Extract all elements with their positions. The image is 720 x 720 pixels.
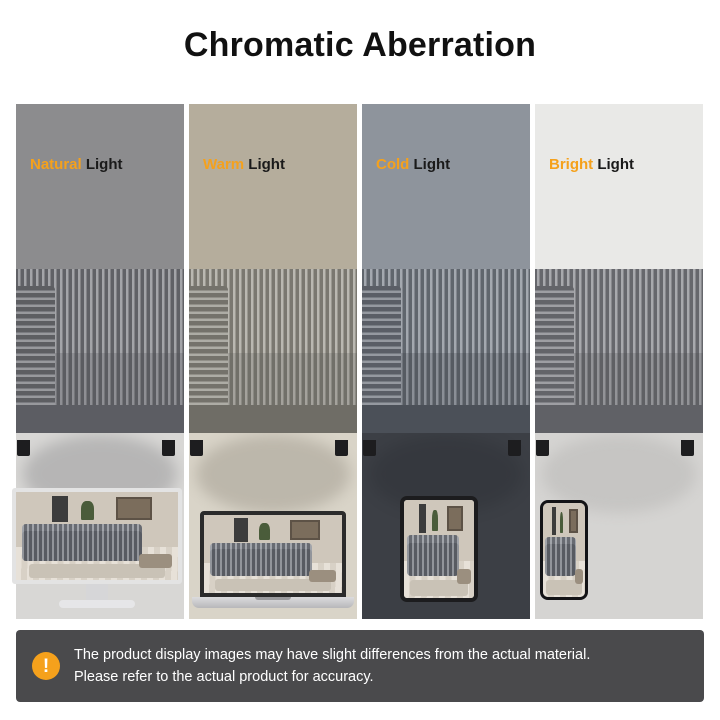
panel-label-accent: Warm: [203, 156, 244, 173]
sofa-skirt: [16, 405, 184, 433]
monitor-screen: [12, 488, 182, 584]
floor-shadow: [196, 435, 351, 513]
phone-screen: [540, 500, 588, 600]
exclamation-icon: !: [32, 652, 60, 680]
sofa: [189, 269, 357, 444]
scene-sofa: [545, 544, 576, 576]
scene-floor-lamp: [52, 496, 68, 522]
panel-label-bright: Bright Light: [549, 156, 634, 173]
sofa-leg: [17, 440, 30, 456]
scene-side-table: [309, 570, 337, 582]
scene-wall-art: [569, 509, 578, 533]
panel-label-rest: Light: [82, 156, 123, 173]
scene-sofa: [407, 543, 459, 576]
panel-label-rest: Light: [409, 156, 450, 173]
page-title: Chromatic Aberration: [0, 26, 720, 65]
scene-plant: [259, 523, 270, 540]
product-chromatic-aberration-card: Chromatic Aberration Natural Light: [0, 0, 720, 720]
sofa-armrest: [16, 286, 55, 419]
disclaimer-line-2: Please refer to the actual product for a…: [74, 666, 590, 688]
scene-plant: [560, 512, 563, 533]
sofa-skirt: [362, 405, 530, 433]
sofa-leg: [681, 440, 694, 456]
device-desktop-monitor: [12, 488, 182, 608]
sofa-leg: [162, 440, 175, 456]
sofa-leg: [363, 440, 376, 456]
sofa: [16, 269, 184, 444]
scene-floor-lamp: [234, 518, 248, 541]
device-laptop: [192, 511, 354, 608]
panel-label-accent: Bright: [549, 156, 593, 173]
monitor-stand-neck: [86, 584, 108, 600]
monitor-stand-base: [59, 600, 135, 608]
panel-label-rest: Light: [244, 156, 285, 173]
scene-wall-art: [447, 506, 462, 531]
scene-floor-lamp: [552, 507, 556, 535]
sofa-armrest: [535, 286, 574, 419]
sofa-armrest: [362, 286, 401, 419]
laptop-trackpad-notch: [255, 597, 291, 600]
sofa-leg: [508, 440, 521, 456]
device-smartphone: [540, 500, 588, 600]
scene-sofa: [210, 549, 312, 576]
sofa-skirt: [189, 405, 357, 433]
scene-floor-lamp: [419, 504, 426, 533]
panel-label-accent: Cold: [376, 156, 409, 173]
laptop-screen: [200, 511, 346, 597]
scene-side-table: [457, 569, 471, 585]
sofa-leg: [536, 440, 549, 456]
sofa: [362, 269, 530, 444]
sofa-leg: [335, 440, 348, 456]
tablet-screen: [400, 496, 478, 602]
panel-label-rest: Light: [593, 156, 634, 173]
disclaimer-line-1: The product display images may have slig…: [74, 644, 590, 666]
panel-label-accent: Natural: [30, 156, 82, 173]
device-tablet: [400, 496, 478, 602]
panel-label-cold: Cold Light: [376, 156, 450, 173]
sofa-armrest: [189, 286, 228, 419]
sofa-leg: [190, 440, 203, 456]
scene-wall-art: [116, 497, 152, 520]
scene-side-table: [575, 569, 583, 584]
scene-plant: [81, 501, 94, 520]
panel-label-warm: Warm Light: [203, 156, 285, 173]
scene-side-table: [139, 554, 171, 568]
scene-sofa: [22, 531, 142, 561]
scene-wall-art: [290, 520, 320, 540]
sofa-skirt: [535, 405, 703, 433]
disclaimer-text: The product display images may have slig…: [74, 644, 590, 689]
panel-label-natural: Natural Light: [30, 156, 123, 173]
disclaimer-notice: ! The product display images may have sl…: [16, 630, 704, 702]
scene-plant: [432, 510, 438, 532]
sofa: [535, 269, 703, 444]
laptop-base: [192, 597, 354, 608]
